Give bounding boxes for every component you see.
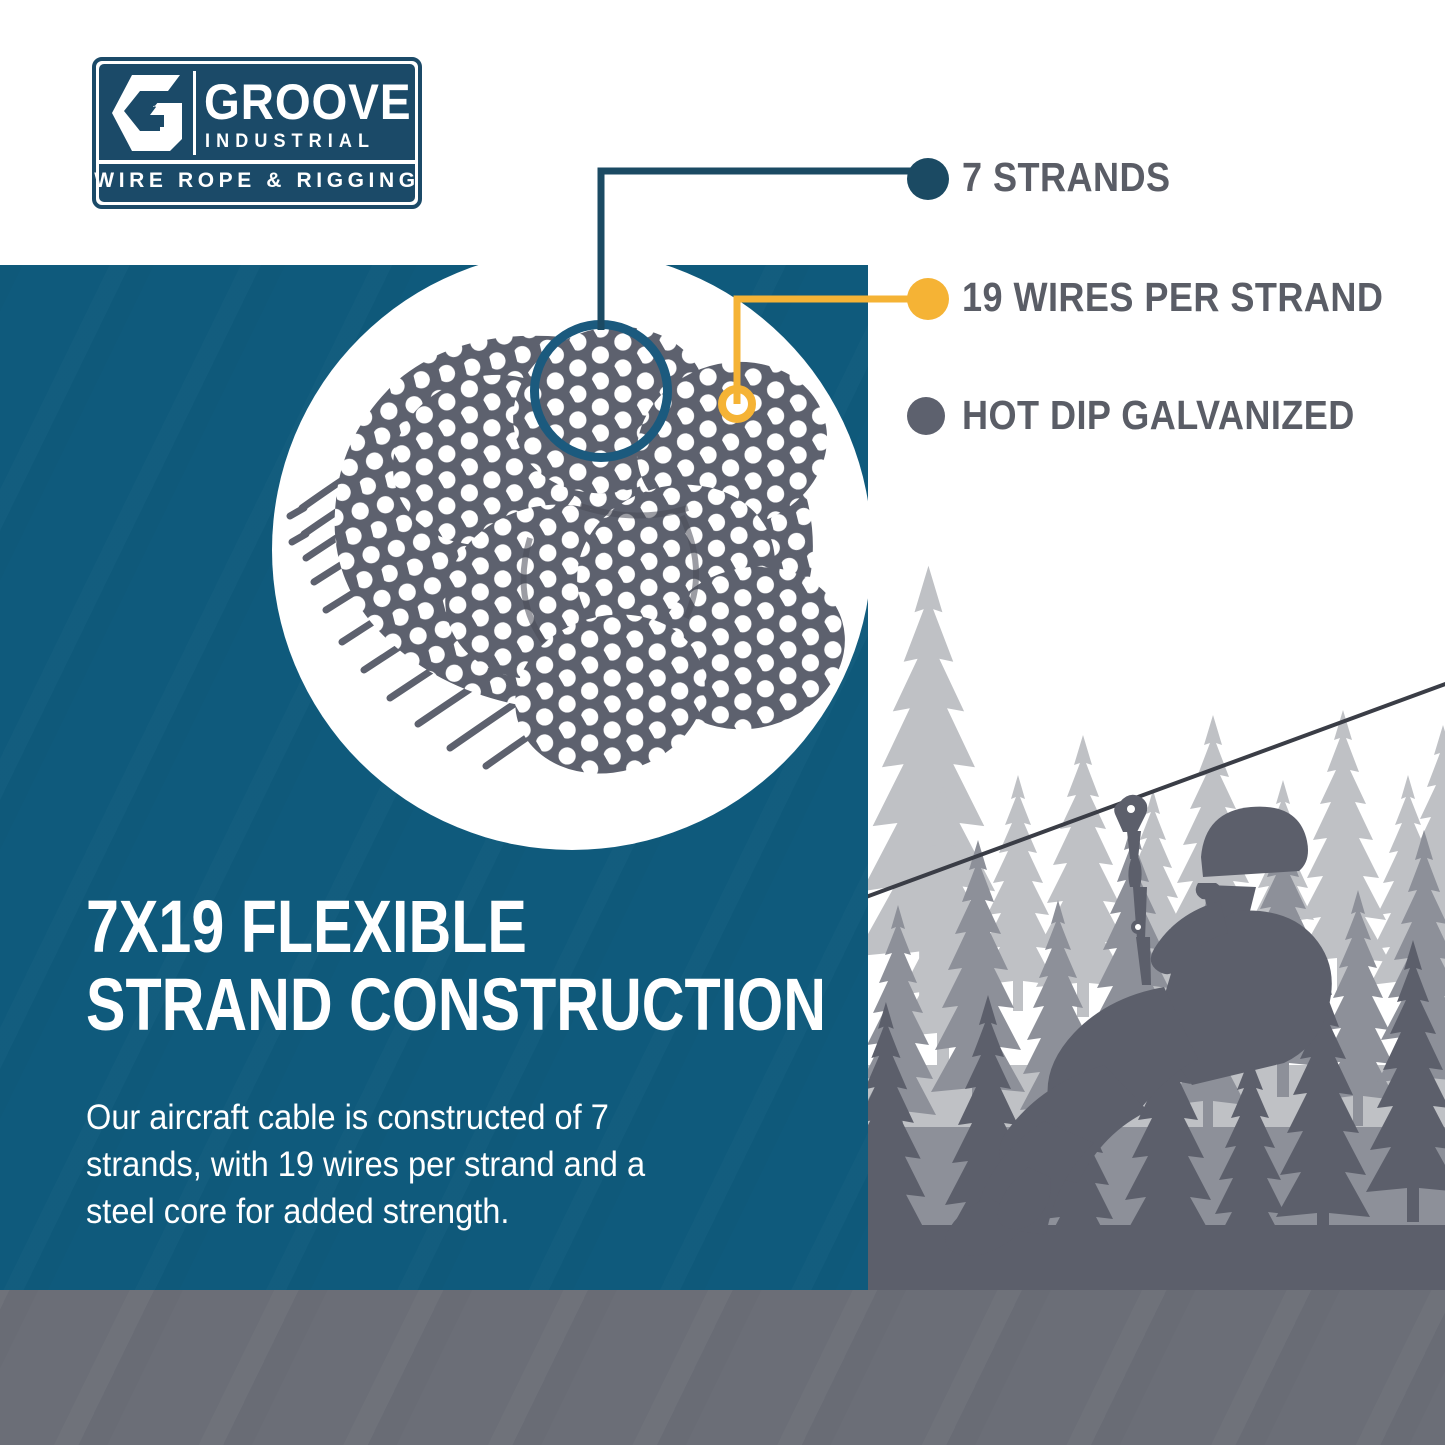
- logo-brand-text: GROOVE: [204, 72, 395, 132]
- body-copy: Our aircraft cable is constructed of 7 s…: [86, 1094, 700, 1235]
- logo-vertical-divider: [193, 71, 196, 155]
- callout-label-7-strands: 7 STRANDS: [962, 155, 1170, 199]
- leader-line-19-wires: [737, 299, 924, 404]
- leader-line-7-strands: [601, 171, 924, 330]
- callout-dot-hot-dip-galvanized: [907, 397, 945, 435]
- logo-tagline: WIRE ROPE & RIGGING: [92, 169, 422, 193]
- bottom-band-texture: [0, 1290, 1445, 1445]
- callout-label-hot-dip-galvanized: HOT DIP GALVANIZED: [962, 393, 1355, 437]
- infographic-canvas: 7 STRANDS 19 WIRES PER STRAND HOT DIP GA…: [0, 0, 1445, 1445]
- callout-label-19-wires: 19 WIRES PER STRAND: [962, 275, 1383, 319]
- headline-line-2: STRAND CONSTRUCTION: [86, 966, 694, 1044]
- groove-g-monogram-icon: [110, 73, 186, 153]
- bottom-gray-band: [0, 1290, 1445, 1445]
- logo-horizontal-divider: [99, 160, 415, 164]
- headline-line-1: 7X19 FLEXIBLE: [86, 888, 694, 966]
- brand-logo[interactable]: GROOVE INDUSTRIAL WIRE ROPE & RIGGING: [92, 57, 422, 209]
- headline-block: 7X19 FLEXIBLE STRAND CONSTRUCTION: [86, 888, 846, 1044]
- callout-dot-7-strands: [907, 158, 949, 200]
- callout-dot-19-wires: [907, 278, 949, 320]
- logo-sub-text: INDUSTRIAL: [205, 131, 405, 153]
